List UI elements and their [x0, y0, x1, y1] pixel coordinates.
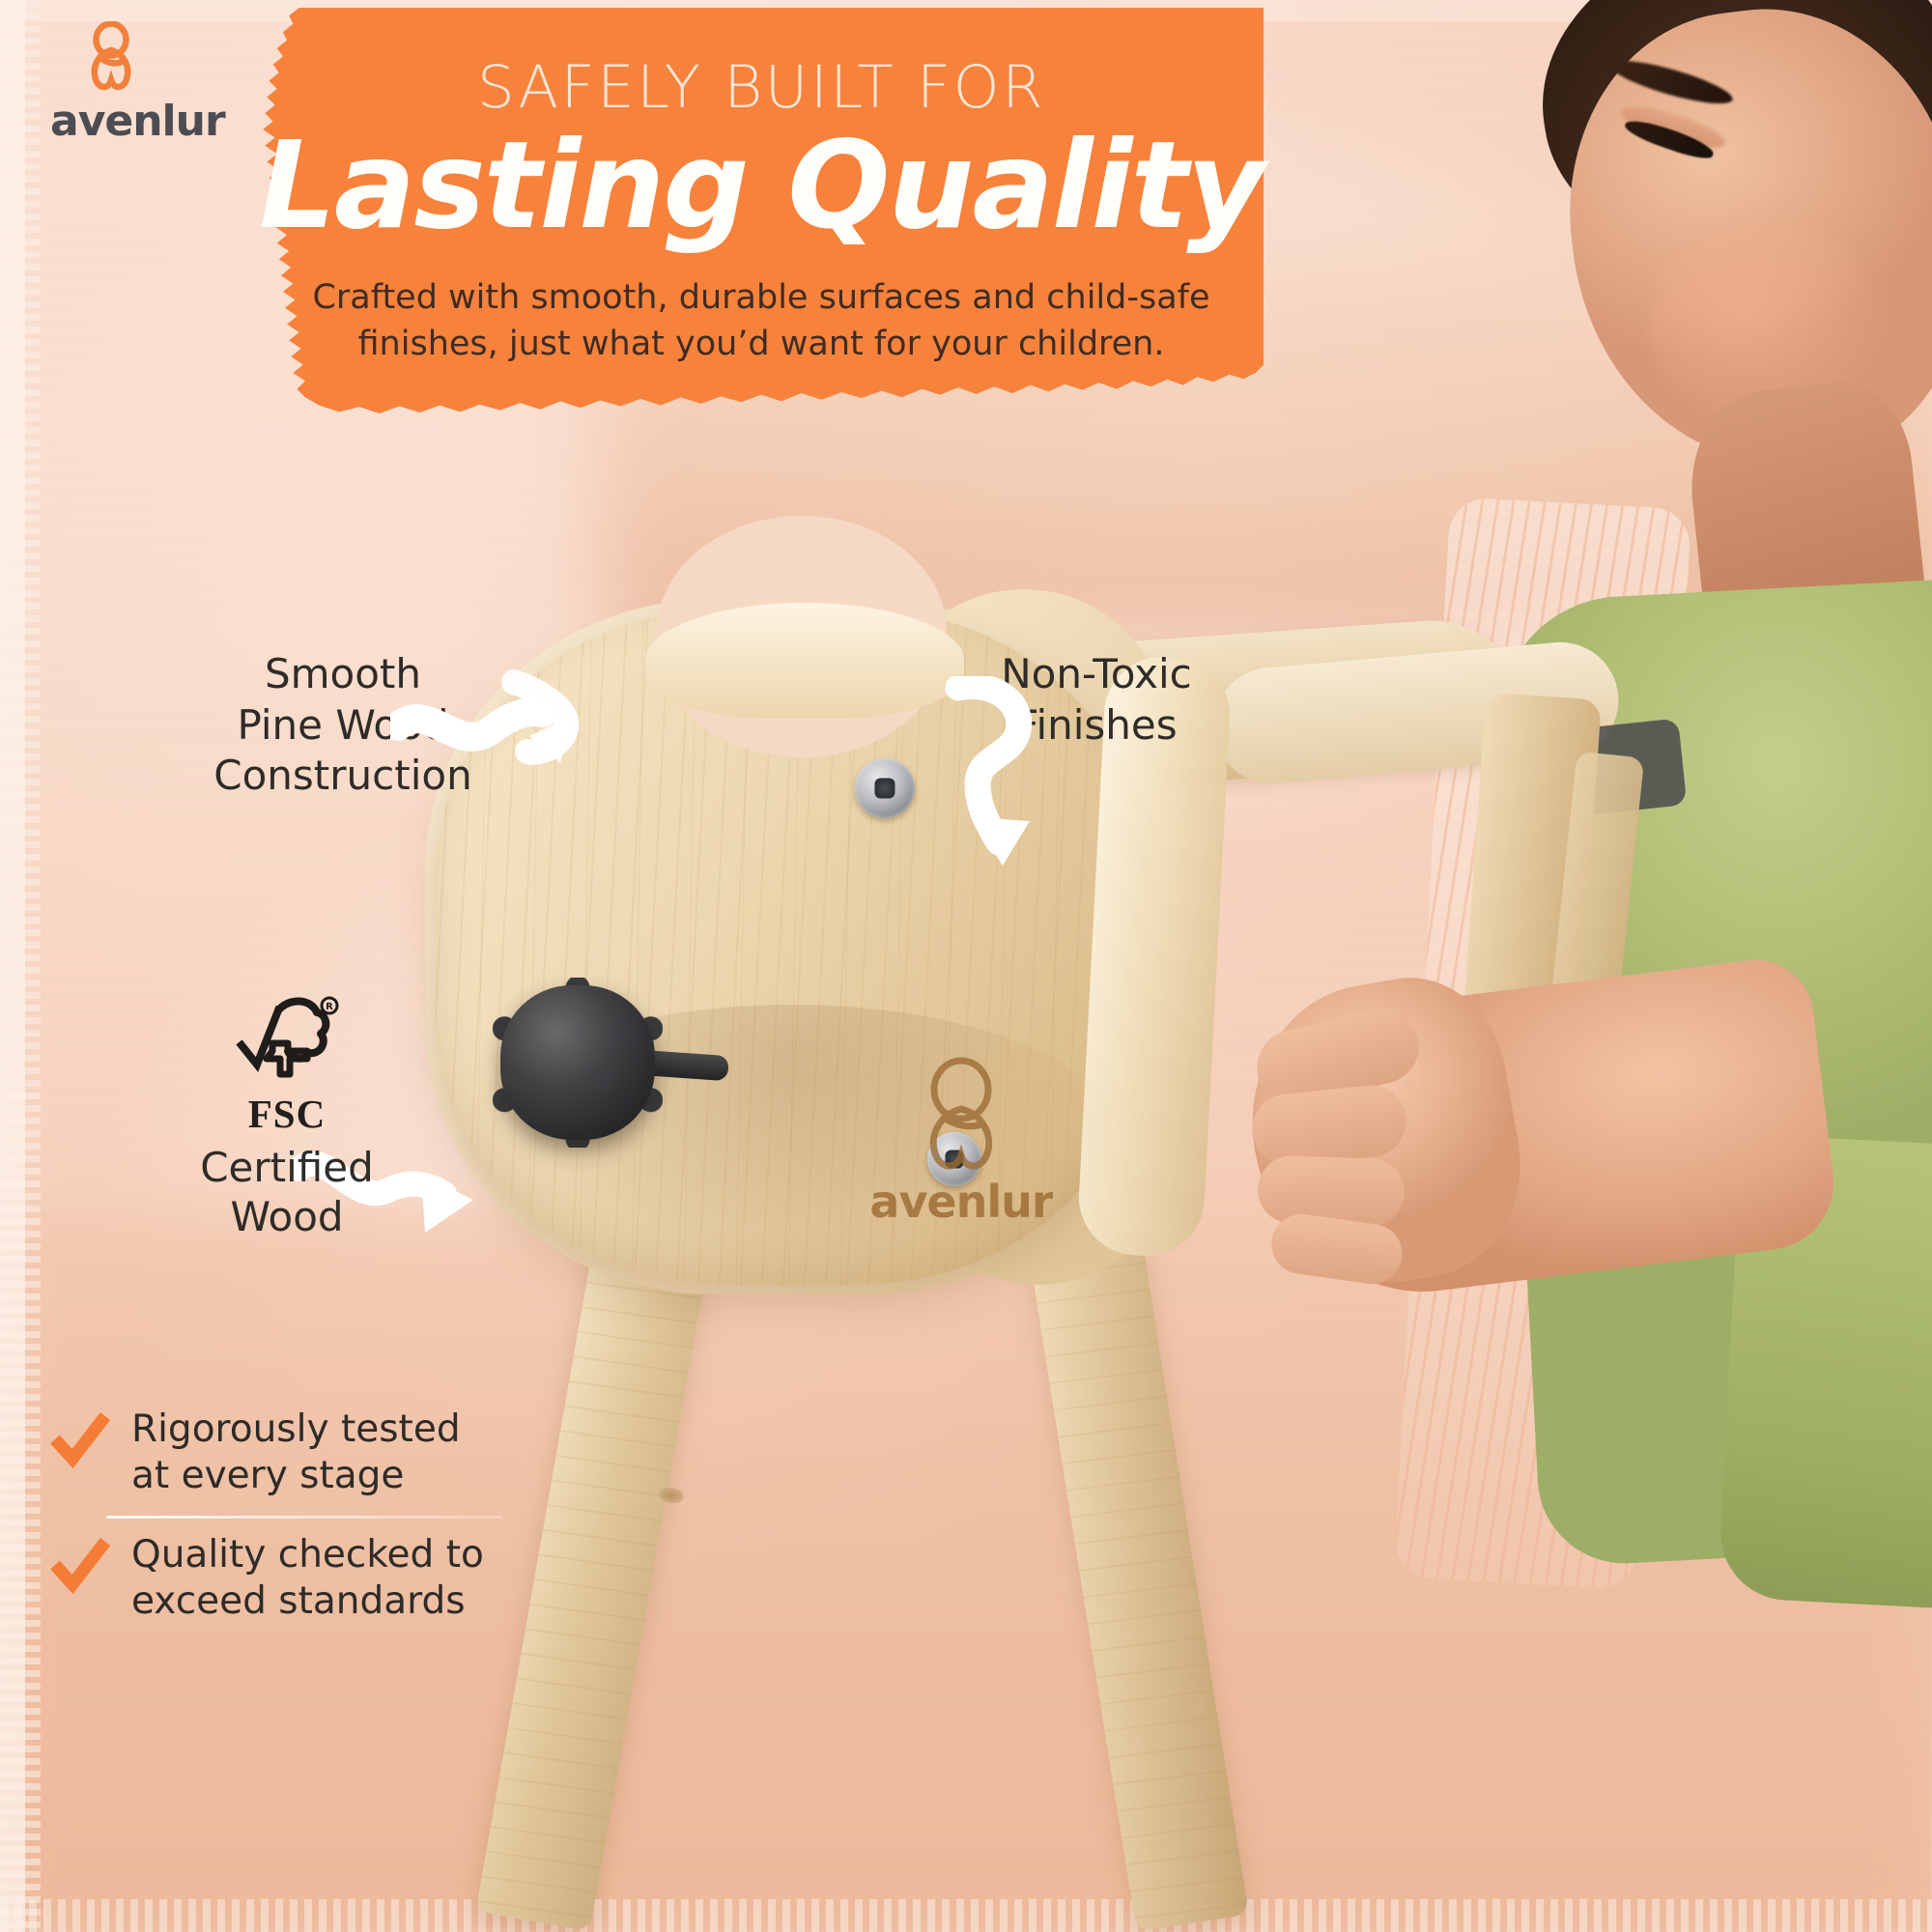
metal-bolt-icon — [855, 758, 915, 818]
quality-checklist: Rigorously testedat every stage Quality … — [50, 1393, 504, 1641]
adjustment-knob-icon — [500, 985, 655, 1140]
list-item: Quality checked toexceed standards — [50, 1519, 504, 1641]
fsc-label: CertifiedWood — [147, 1143, 427, 1241]
banner-subcopy: Crafted with smooth, durable surfaces an… — [298, 274, 1225, 368]
svg-text:avenlur: avenlur — [869, 1176, 1053, 1228]
brush-arrow-down-icon — [935, 676, 1061, 869]
avenlur-logo-icon — [68, 21, 155, 99]
checkmark-icon — [50, 1536, 110, 1596]
brush-arrow-right-icon — [390, 667, 583, 802]
banner-headline: Lasting Quality — [259, 123, 1264, 251]
banner-kicker: SAFELY BUILT FOR — [477, 58, 1045, 117]
fsc-abbreviation: FSC — [147, 1091, 427, 1137]
avenlur-engraved-logo-icon: avenlur — [869, 1055, 1053, 1238]
list-item: Rigorously testedat every stage — [50, 1393, 504, 1516]
headline-banner-content: SAFELY BUILT FOR Lasting Quality Crafted… — [259, 8, 1264, 413]
checklist-item-text: Quality checked toexceed standards — [131, 1532, 484, 1624]
brand-logo: avenlur — [50, 21, 234, 147]
checklist-item-text: Rigorously testedat every stage — [131, 1406, 461, 1498]
child-finger — [1257, 1154, 1406, 1227]
fsc-certification: R FSC CertifiedWood — [147, 995, 427, 1241]
svg-text:R: R — [326, 1002, 333, 1012]
fsc-tree-checkmark-icon: R — [234, 995, 340, 1087]
brand-name: avenlur — [50, 97, 234, 146]
checkmark-icon — [50, 1410, 110, 1470]
panel-notch-lip — [645, 603, 964, 719]
